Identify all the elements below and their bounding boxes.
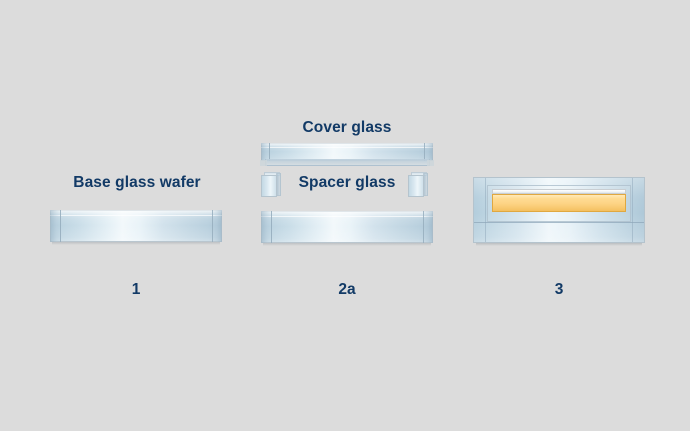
- gold-embedded-element: [492, 194, 626, 212]
- label-base-glass-wafer: Base glass wafer: [46, 174, 228, 192]
- assembly-spacer-pillar-right: [632, 178, 633, 242]
- assembly-bond-seam: [474, 222, 644, 223]
- base-glass-wafer-slab-step2a: [261, 211, 433, 243]
- spacer-glass-block-left: [261, 172, 283, 200]
- label-spacer-glass: Spacer glass: [272, 174, 422, 192]
- slab-right-edge: [212, 210, 222, 242]
- step-label-3: 3: [533, 281, 585, 299]
- slab-right-edge: [423, 211, 433, 243]
- cover-glass-underside: [265, 159, 430, 166]
- slab-drop-shadow: [263, 243, 431, 246]
- slab-top-highlight: [261, 143, 433, 148]
- slab-left-edge: [261, 211, 272, 243]
- slab-left-edge: [50, 210, 61, 242]
- assembly-drop-shadow: [476, 243, 642, 246]
- cover-glass-notch-left: [260, 160, 267, 166]
- label-cover-glass: Cover glass: [272, 119, 422, 137]
- base-glass-wafer-slab-step1: [50, 210, 222, 242]
- slab-top-highlight: [261, 211, 433, 217]
- spacer-glass-block-right: [408, 172, 430, 200]
- assembly-spacer-pillar-left: [485, 178, 486, 242]
- diagram-canvas: Base glass wafer 1 Cover glass Spacer gl…: [0, 0, 690, 431]
- cover-glass-slab: [261, 143, 433, 161]
- slab-drop-shadow: [52, 242, 220, 245]
- cover-glass-notch-right: [427, 160, 434, 166]
- spacer-front-face: [408, 175, 424, 197]
- slab-top-highlight: [50, 210, 222, 216]
- step-label-2a: 2a: [321, 281, 373, 299]
- bonded-glass-stack-step3: [473, 177, 645, 243]
- spacer-front-face: [261, 175, 277, 197]
- step-label-1: 1: [110, 281, 162, 299]
